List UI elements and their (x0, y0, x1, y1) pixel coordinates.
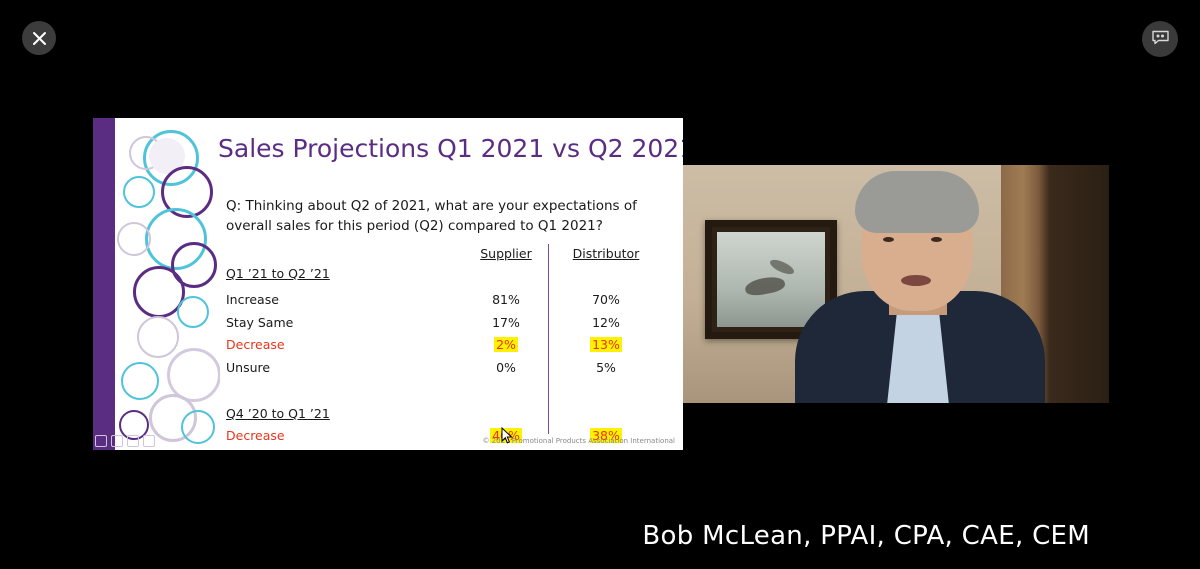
column-header-supplier: Supplier (471, 246, 541, 261)
row-label: Increase (226, 292, 279, 307)
captions-button[interactable] (1142, 21, 1178, 57)
slide-title: Sales Projections Q1 2021 vs Q2 2021 (218, 134, 683, 163)
row-supplier-value: 2% (494, 337, 518, 352)
slide-bubble-decoration (115, 118, 220, 450)
slide-data-table: Supplier Distributor Q1 ’21 to Q2 ’21 In… (226, 246, 666, 450)
row-label: Unsure (226, 360, 270, 375)
participant-name-caption: Bob McLean, PPAI, CPA, CAE, CEM (642, 521, 1090, 551)
row-label: Decrease (226, 337, 285, 352)
row-distributor-value: 70% (566, 292, 646, 307)
close-icon (32, 31, 47, 46)
slide-control-2[interactable] (111, 435, 123, 447)
slide-control-strip[interactable] (95, 435, 155, 447)
section-label-2: Q4 ’20 to Q1 ’21 (226, 382, 666, 428)
table-header-row: Supplier Distributor (226, 246, 666, 266)
captions-icon (1151, 29, 1170, 50)
table-row: Stay Same 17% 12% (226, 315, 666, 338)
slide-control-1[interactable] (95, 435, 107, 447)
row-distributor-value: 5% (566, 360, 646, 375)
wall-picture-image (717, 232, 825, 327)
row-supplier-value: 0% (471, 360, 541, 375)
slide-question: Q: Thinking about Q2 of 2021, what are y… (226, 196, 646, 236)
participant-eye-left (883, 237, 894, 242)
row-supplier-value: 17% (471, 315, 541, 330)
video-tile[interactable] (683, 165, 1109, 403)
table-row: Increase 81% 70% (226, 292, 666, 315)
row-label: Stay Same (226, 315, 293, 330)
row-distributor-value: 13% (590, 337, 622, 352)
mouse-cursor-icon (501, 427, 513, 445)
slide-control-4[interactable] (143, 435, 155, 447)
column-header-distributor: Distributor (566, 246, 646, 261)
participant-eye-right (931, 237, 942, 242)
row-supplier-value: 81% (471, 292, 541, 307)
participant-mouth (901, 275, 931, 286)
row-distributor-value: 12% (566, 315, 646, 330)
table-row: Decrease 2% 13% (226, 337, 666, 360)
section-label-1: Q1 ’21 to Q2 ’21 (226, 266, 666, 292)
slide-control-3[interactable] (127, 435, 139, 447)
table-row: Unsure 0% 5% (226, 360, 666, 383)
row-label: Decrease (226, 428, 285, 443)
slide-accent-bar (93, 118, 115, 450)
close-button[interactable] (22, 21, 56, 55)
presentation-slide[interactable]: Sales Projections Q1 2021 vs Q2 2021 Q: … (93, 118, 683, 450)
participant-hair (855, 171, 979, 233)
